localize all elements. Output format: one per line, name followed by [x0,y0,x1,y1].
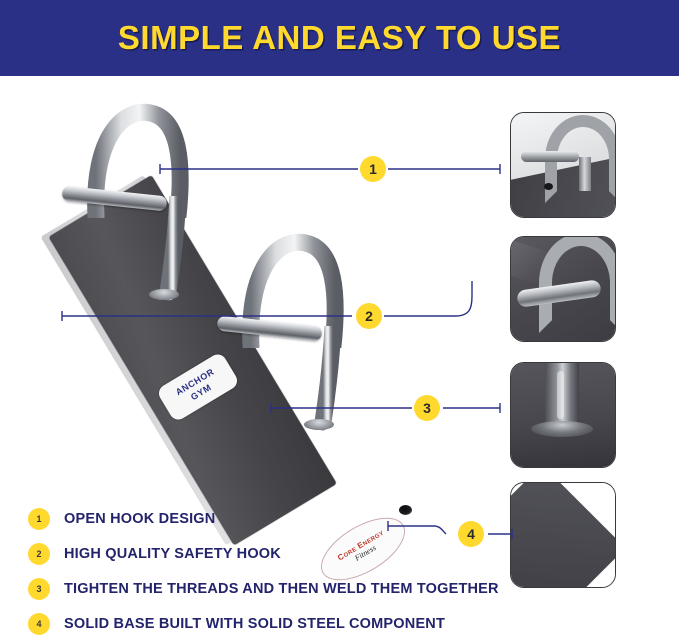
callout-badge-3[interactable]: 3 [414,395,440,421]
callout-badge-4[interactable]: 4 [458,521,484,547]
callout-badge-1[interactable]: 1 [360,156,386,182]
content-stage: ANCHOR GYM Core Energy Fitness 1 2 [0,76,679,644]
header-banner: SIMPLE AND EASY TO USE [0,0,679,76]
leader-step-4 [388,526,446,534]
banner-title: SIMPLE AND EASY TO USE [118,19,561,57]
leader-curve-2 [384,281,472,316]
callout-badge-2[interactable]: 2 [356,303,382,329]
callout-leader-lines [0,76,679,644]
